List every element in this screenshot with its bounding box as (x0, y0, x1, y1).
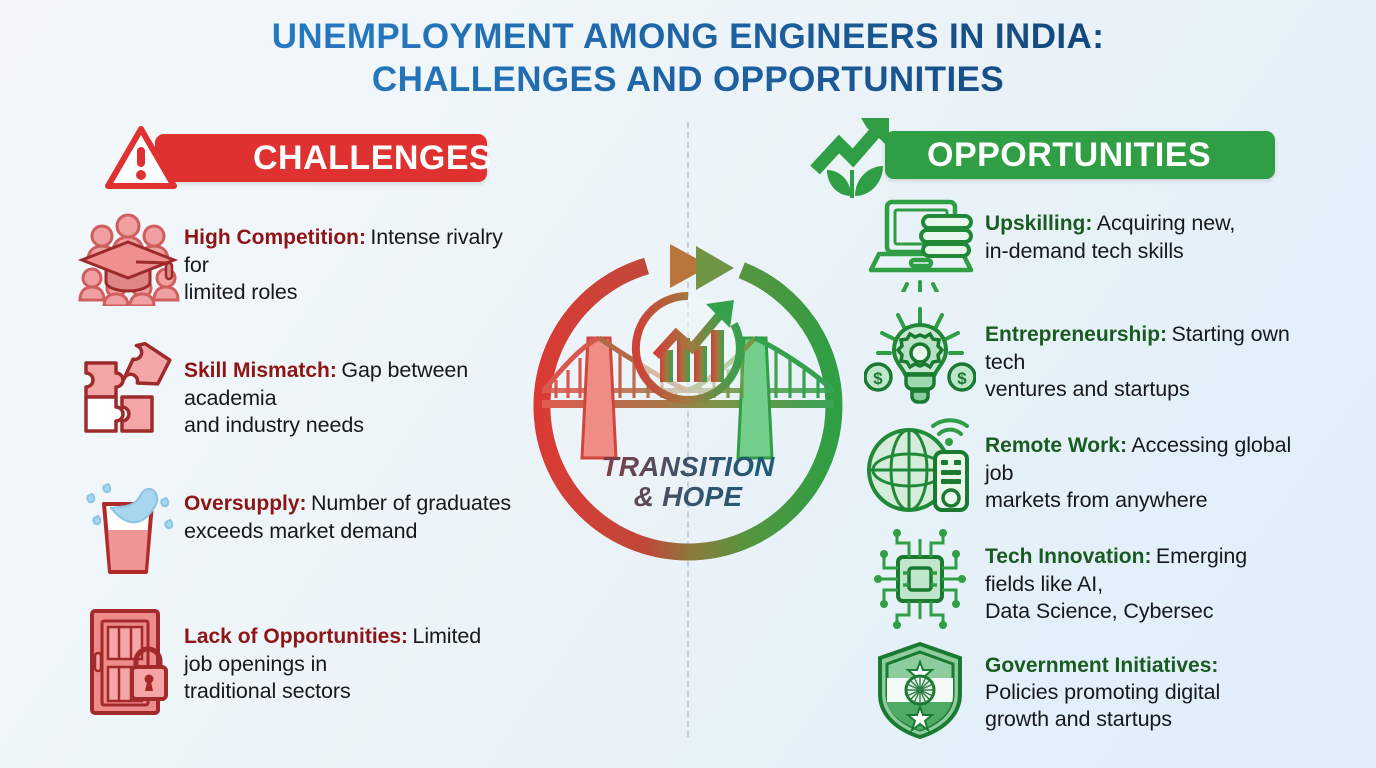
list-item-text: Upskilling: Acquiring new, in-demand tec… (985, 196, 1295, 307)
list-item-title: Government Initiatives: (985, 654, 1218, 677)
warning-triangle-icon (104, 124, 178, 197)
growth-arrow-leaves-icon (805, 108, 901, 205)
opportunities-banner-label: OPPORTUNITIES (927, 136, 1211, 175)
emblem-caption-line-1: TRANSITION (601, 451, 774, 482)
list-item-title: Oversupply: (184, 492, 307, 515)
svg-text:$: $ (957, 369, 967, 388)
challenges-banner: CHALLENGES (155, 134, 487, 182)
list-item-text: Tech Innovation: Emerging fields like AI… (985, 529, 1295, 640)
list-item-text: Entrepreneurship: Starting own tech vent… (985, 307, 1295, 418)
list-item-title: Upskilling: (985, 212, 1092, 235)
list-item-title: Tech Innovation: (985, 545, 1151, 568)
page-title-line-2: Challenges and Opportunities (0, 59, 1376, 102)
laptop-books-icon (855, 196, 985, 307)
list-item[interactable]: Upskilling: Acquiring new, in-demand tec… (855, 196, 1295, 307)
puzzle-mismatch-icon (72, 339, 184, 472)
challenges-list: High Competition: Intense rivalry for li… (72, 206, 512, 738)
list-item-body: Policies promoting digital growth and st… (985, 680, 1220, 732)
opportunities-banner: OPPORTUNITIES (885, 131, 1275, 179)
list-item-text: Government Initiatives: Policies promoti… (985, 640, 1295, 751)
list-item[interactable]: $ $ Entrepreneurship: Starting own tech … (855, 307, 1295, 418)
list-item-title: Entrepreneurship: (985, 323, 1167, 346)
microchip-circuit-icon (855, 529, 985, 640)
list-item-title: Skill Mismatch: (184, 359, 337, 382)
list-item-title: Remote Work: (985, 434, 1127, 457)
challenges-banner-label: CHALLENGES (253, 139, 492, 178)
svg-text:$: $ (873, 369, 883, 388)
locked-door-icon (72, 605, 184, 738)
list-item[interactable]: Tech Innovation: Emerging fields like AI… (855, 529, 1295, 640)
list-item[interactable]: Skill Mismatch: Gap between academia and… (72, 339, 512, 472)
infographic-canvas: Unemployment Among Engineers in India: C… (0, 0, 1376, 768)
list-item-text: High Competition: Intense rivalry for li… (184, 206, 512, 339)
list-item-title: High Competition: (184, 226, 366, 249)
list-item[interactable]: Lack of Opportunities: Limited job openi… (72, 605, 512, 738)
list-item-text: Lack of Opportunities: Limited job openi… (184, 605, 512, 738)
list-item-text: Oversupply: Number of graduates exceeds … (184, 472, 512, 605)
list-item[interactable]: Oversupply: Number of graduates exceeds … (72, 472, 512, 605)
list-item[interactable]: Government Initiatives: Policies promoti… (855, 640, 1295, 751)
bridge-circular-arrow-icon: TRANSITION & HOPE (520, 238, 856, 574)
list-item-text: Skill Mismatch: Gap between academia and… (184, 339, 512, 472)
page-title: Unemployment Among Engineers in India: C… (0, 16, 1376, 101)
globe-remote-wifi-icon (855, 418, 985, 529)
opportunities-list: Upskilling: Acquiring new, in-demand tec… (855, 196, 1295, 751)
list-item[interactable]: High Competition: Intense rivalry for li… (72, 206, 512, 339)
overflowing-glass-icon (72, 472, 184, 605)
page-title-line-1: Unemployment Among Engineers in India: (272, 17, 1105, 56)
list-item-text: Remote Work: Accessing global job market… (985, 418, 1295, 529)
list-item-title: Lack of Opportunities: (184, 625, 408, 648)
list-item[interactable]: Remote Work: Accessing global job market… (855, 418, 1295, 529)
lightbulb-gear-money-icon: $ $ (855, 307, 985, 418)
emblem-caption: TRANSITION & HOPE (520, 452, 856, 511)
india-shield-chakra-icon (855, 640, 985, 751)
emblem-caption-line-2: & HOPE (520, 482, 856, 512)
graduation-cap-crowd-icon (72, 206, 184, 339)
